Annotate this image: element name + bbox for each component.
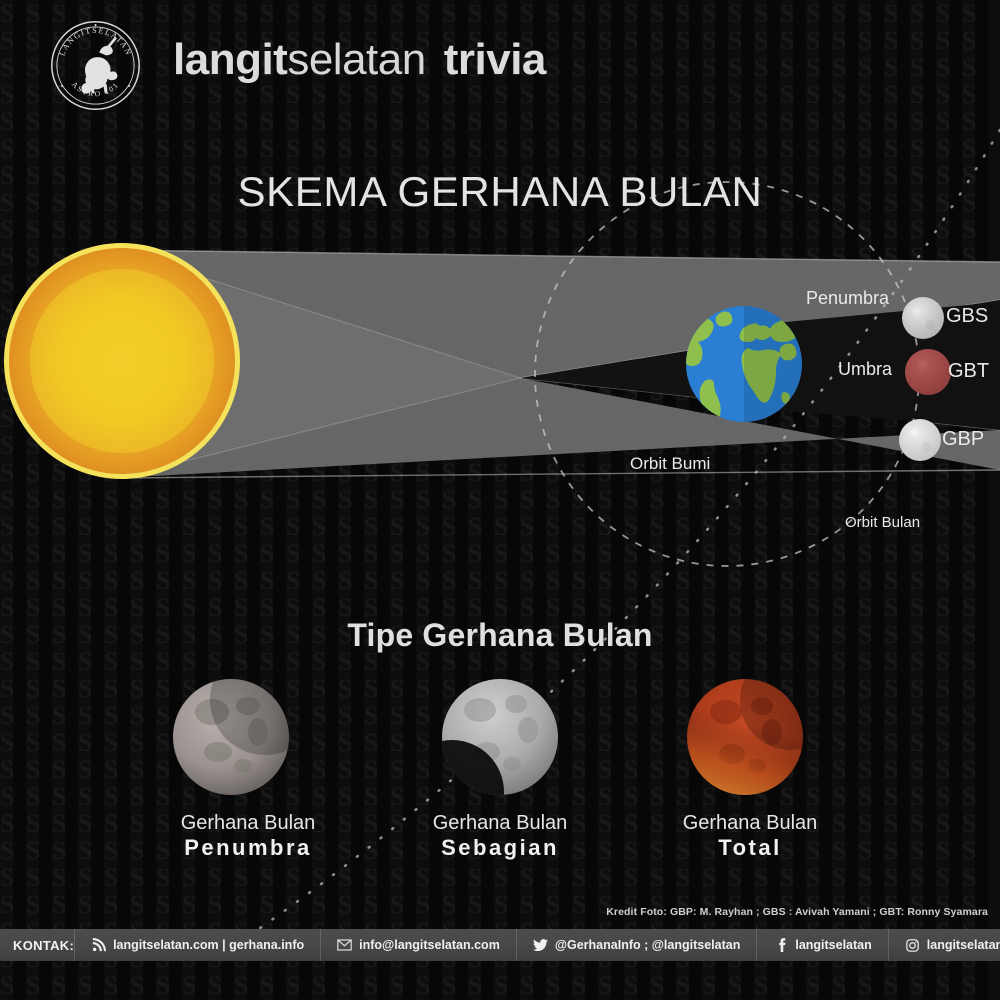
footer-item-twitter[interactable]: @GerhanaInfo ; @langitselatan xyxy=(516,929,757,961)
section-title-types: Tipe Gerhana Bulan xyxy=(0,617,1000,654)
footer-item-label: langitselatan.com | gerhana.info xyxy=(113,938,304,952)
page-title: SKEMA GERHANA BULAN xyxy=(0,168,1000,216)
rss-icon xyxy=(91,938,106,953)
langitselatan-logo-icon[interactable]: LANGITSELATAN ASTRO 101 xyxy=(49,19,142,112)
footer-item-label: info@langitselatan.com xyxy=(359,938,500,952)
twitter-icon xyxy=(533,938,548,953)
moon-total-eclipse-photo xyxy=(690,678,810,798)
envelope-icon xyxy=(337,938,352,953)
brand-langit: langit xyxy=(173,35,287,84)
label-gbp: GBP xyxy=(942,428,984,451)
facebook-icon xyxy=(773,938,788,953)
footer-item-label: @GerhanaInfo ; @langitselatan xyxy=(555,938,741,952)
label-gbs: GBS xyxy=(946,305,988,328)
footer-item-label: langitselatanmedia xyxy=(927,938,1000,952)
moon-gbs xyxy=(902,297,944,339)
footer-item-website[interactable]: langitselatan.com | gerhana.info xyxy=(74,929,320,961)
footer-kontak-label: KONTAK: xyxy=(0,938,74,953)
footer-contact-bar: KONTAK: langitselatan.com | gerhana.info… xyxy=(0,929,1000,961)
sun xyxy=(4,243,240,479)
type-caption-line2: Total xyxy=(600,835,900,861)
brand-wordmark: langitselatantrivia xyxy=(173,38,546,82)
instagram-icon xyxy=(905,938,920,953)
moon-penumbral-eclipse-photo xyxy=(188,678,308,798)
header: LANGITSELATAN ASTRO 101 langits xyxy=(0,0,1000,130)
infographic-poster: SSSSSSSSSSSSSSSSSSSSSSSSSSSSSSSSSSSSSSSS… xyxy=(0,0,1000,1000)
eclipse-type-card: Gerhana Bulan Total xyxy=(600,678,900,861)
label-penumbra: Penumbra xyxy=(806,288,889,309)
label-umbra: Umbra xyxy=(838,359,892,380)
moon-gbt xyxy=(905,349,951,395)
brand-selatan: selatan xyxy=(287,35,425,84)
label-gbt: GBT xyxy=(948,360,989,383)
label-orbit-bumi: Orbit Bumi xyxy=(630,454,710,474)
label-orbit-bulan: Orbit Bulan xyxy=(845,514,920,531)
eclipse-types: Gerhana Bulan Penumbra Gerhana Bulan Seb… xyxy=(0,678,1000,878)
brand-trivia: trivia xyxy=(444,35,546,84)
photo-credits: Kredit Foto: GBP: M. Rayhan ; GBS : Aviv… xyxy=(0,906,988,918)
footer-item-instagram[interactable]: langitselatanmedia xyxy=(888,929,1000,961)
footer-item-facebook[interactable]: langitselatan xyxy=(756,929,887,961)
footer-item-email[interactable]: info@langitselatan.com xyxy=(320,929,516,961)
type-caption-line1: Gerhana Bulan xyxy=(600,812,900,835)
moon-partial-eclipse-photo xyxy=(440,678,560,798)
footer-item-label: langitselatan xyxy=(795,938,871,952)
moon-gbp xyxy=(899,419,941,461)
